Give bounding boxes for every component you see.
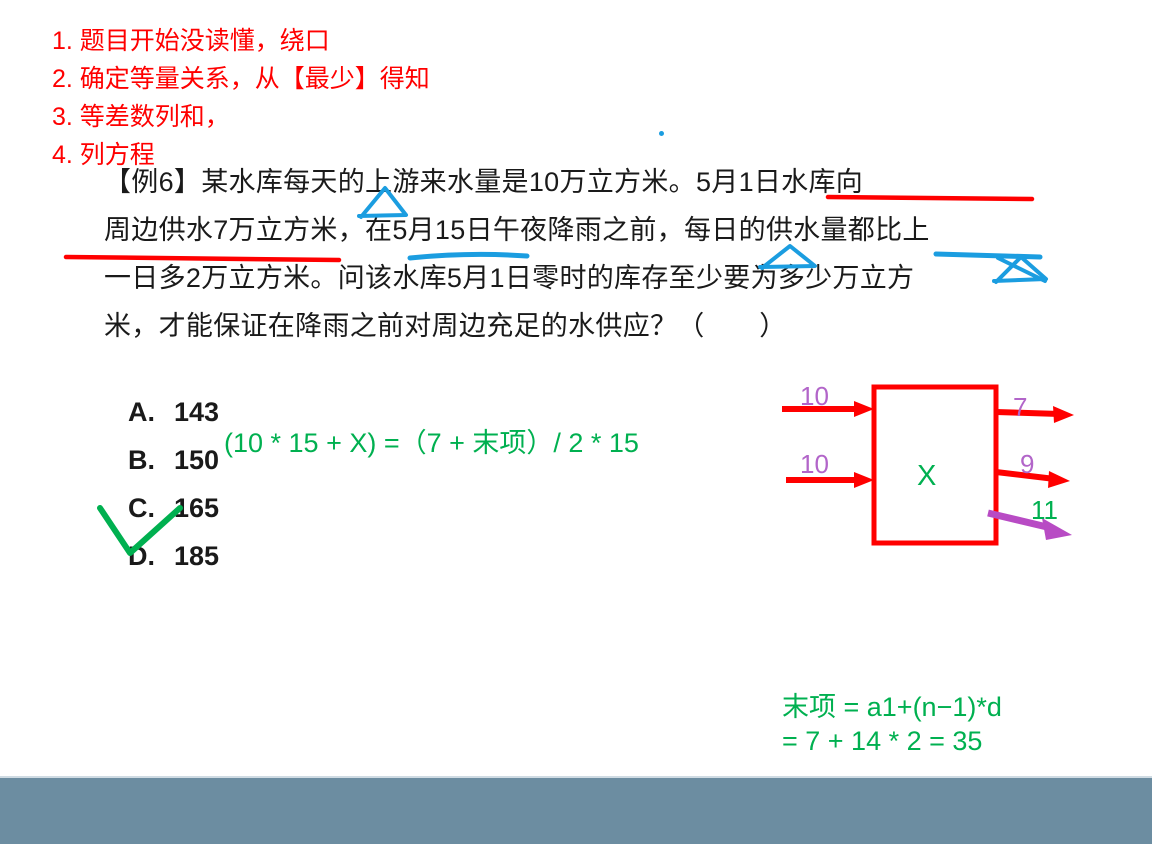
option-a-label: A.	[128, 388, 174, 436]
diagram-output-arrow-1	[996, 406, 1074, 423]
green-formula-line-1: 末项 = a1+(n−1)*d	[782, 690, 1002, 724]
option-d-label: D.	[128, 532, 174, 580]
note-line-2: 2. 确定等量关系，从【最少】得知	[52, 60, 430, 98]
diagram-output-arrow-3	[988, 513, 1072, 540]
note-line-1: 1. 题目开始没读懂，绕口	[52, 22, 430, 60]
option-d-value: 185	[174, 541, 219, 571]
problem-line-4: 米，才能保证在降雨之前对周边充足的水供应？（ ）	[104, 302, 1064, 350]
diagram-output-label-2: 9	[1020, 449, 1034, 480]
red-note-list: 1. 题目开始没读懂，绕口 2. 确定等量关系，从【最少】得知 3. 等差数列和…	[52, 22, 430, 174]
option-b-value: 150	[174, 445, 219, 475]
problem-statement: 【例6】某水库每天的上游来水量是10万立方米。5月1日水库向 周边供水7万立方米…	[104, 158, 1064, 350]
diagram-output-label-1: 7	[1013, 392, 1027, 423]
blue-ink-dot	[659, 131, 664, 136]
option-d[interactable]: D.185	[128, 532, 219, 580]
diagram-output-label-3: 11	[1031, 495, 1058, 526]
green-equation: (10 * 15 + X) =（7 + 末项）/ 2 * 15	[224, 421, 639, 460]
slide-canvas: 1. 题目开始没读懂，绕口 2. 确定等量关系，从【最少】得知 3. 等差数列和…	[0, 0, 1152, 844]
option-c[interactable]: C.165	[128, 484, 219, 532]
note-line-3: 3. 等差数列和，	[52, 98, 430, 136]
problem-line-3: 一日多2万立方米。问该水库5月1日零时的库存至少要为多少万立方	[104, 254, 1064, 302]
answer-options: A.143 B.150 C.165 D.185	[128, 388, 219, 580]
option-a-value: 143	[174, 397, 219, 427]
option-a[interactable]: A.143	[128, 388, 219, 436]
bottom-bar	[0, 776, 1152, 844]
option-b[interactable]: B.150	[128, 436, 219, 484]
diagram-box-label: X	[917, 460, 936, 493]
diagram-input-label-1: 10	[800, 381, 829, 412]
note-line-4: 4. 列方程	[52, 136, 430, 174]
option-b-label: B.	[128, 436, 174, 484]
option-c-value: 165	[174, 493, 219, 523]
green-formula-line-2: = 7 + 14 * 2 = 35	[782, 724, 1002, 758]
green-formula: 末项 = a1+(n−1)*d = 7 + 14 * 2 = 35	[782, 690, 1002, 758]
diagram-input-label-2: 10	[800, 449, 829, 480]
option-c-label: C.	[128, 484, 174, 532]
problem-line-2: 周边供水7万立方米，在5月15日午夜降雨之前，每日的供水量都比上	[104, 206, 1064, 254]
